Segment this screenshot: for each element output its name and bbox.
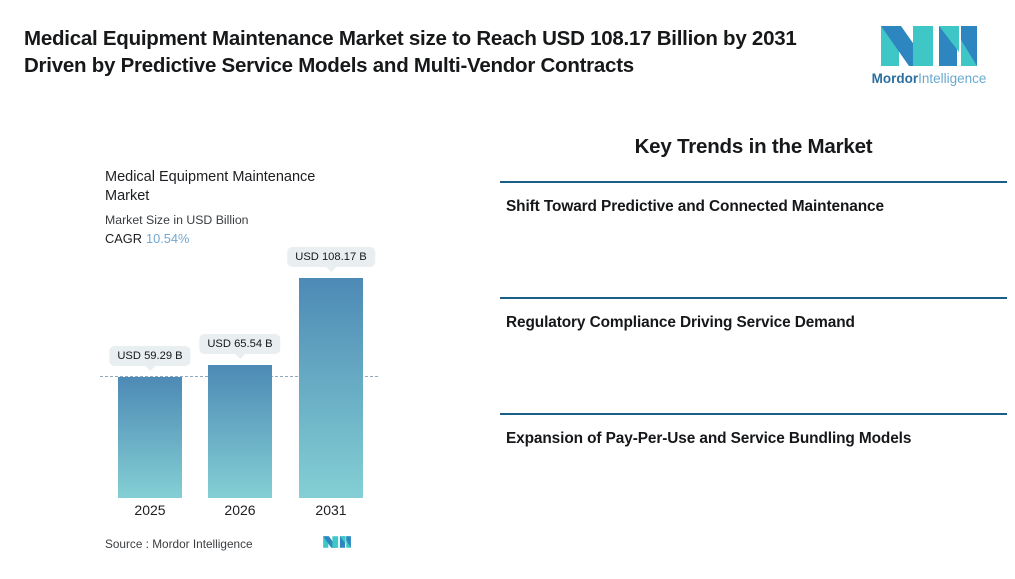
brand-name-light: Intelligence <box>918 71 986 86</box>
bar-value-label: USD 108.17 B <box>287 247 375 267</box>
bar-2031 <box>299 278 363 498</box>
brand-wordmark: MordorIntelligence <box>865 72 993 86</box>
bar-2025 <box>118 377 182 498</box>
source-name: Mordor Intelligence <box>152 537 252 551</box>
mordor-intelligence-mark-icon <box>877 22 981 70</box>
bar-chart-plot: USD 59.29 B USD 65.54 B USD 108.17 B <box>100 258 390 498</box>
x-axis-label-2026: 2026 <box>195 502 285 518</box>
chart-source: Source : Mordor Intelligence <box>105 537 253 551</box>
trend-label: Regulatory Compliance Driving Service De… <box>500 312 976 334</box>
bar-2026 <box>208 365 272 498</box>
page-title: Medical Equipment Maintenance Market siz… <box>24 25 844 79</box>
brand-name-bold: Mordor <box>872 71 919 86</box>
trend-item-1[interactable]: Shift Toward Predictive and Connected Ma… <box>500 181 1007 297</box>
bar-value-label: USD 59.29 B <box>109 346 190 366</box>
cagr-label: CAGR <box>105 231 142 246</box>
key-trends-panel: Key Trends in the Market Shift Toward Pr… <box>500 135 1007 450</box>
x-axis-label-2031: 2031 <box>286 502 376 518</box>
cagr-value: 10.54% <box>146 231 189 246</box>
x-axis-label-2025: 2025 <box>105 502 195 518</box>
bar-value-label: USD 65.54 B <box>199 334 280 354</box>
chart-title: Medical Equipment Maintenance Market <box>105 168 350 206</box>
chart-subtitle: Market Size in USD Billion <box>105 213 405 227</box>
trend-label: Expansion of Pay-Per-Use and Service Bun… <box>500 428 976 450</box>
brand-logo: MordorIntelligence <box>865 22 993 86</box>
source-label: Source : <box>105 537 149 551</box>
chart-cagr: CAGR10.54% <box>105 231 405 246</box>
trend-item-2[interactable]: Regulatory Compliance Driving Service De… <box>500 297 1007 413</box>
trend-item-3[interactable]: Expansion of Pay-Per-Use and Service Bun… <box>500 413 1007 450</box>
trend-label: Shift Toward Predictive and Connected Ma… <box>500 196 976 218</box>
source-mordor-mark-icon <box>322 533 352 551</box>
panel-heading: Key Trends in the Market <box>500 135 1007 159</box>
chart-header: Medical Equipment Maintenance Market Mar… <box>105 168 405 246</box>
